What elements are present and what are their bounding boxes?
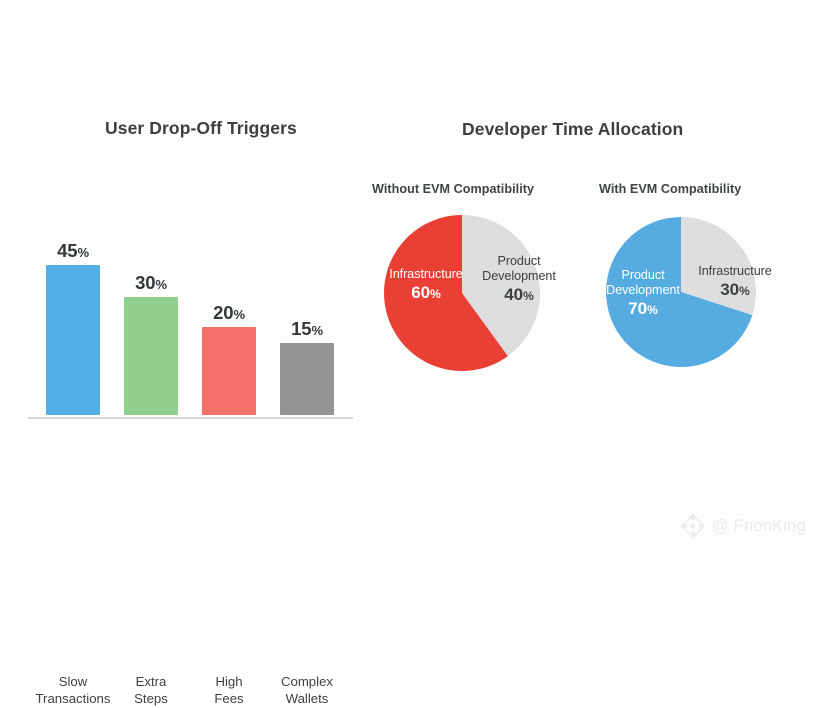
bar-chart-panel: User Drop-Off Triggers 45% Slow Transact… — [0, 110, 380, 410]
pie-1-svg — [383, 214, 541, 372]
bar-rect-slow-transactions[interactable] — [46, 265, 100, 415]
bar-category-line1-1: Extra — [136, 674, 167, 689]
pie-section-title: Developer Time Allocation — [462, 119, 683, 140]
pie-section-title-text: Developer Time Allocation — [462, 119, 683, 139]
bar-value-label-2: 20% — [213, 302, 245, 324]
bar-category-line2-3: Wallets — [286, 691, 329, 706]
bar-chart-title: User Drop-Off Triggers — [105, 118, 297, 139]
pie-charts-panel: Developer Time Allocation Without EVM Co… — [358, 110, 828, 410]
bar-category-line1-3: Complex — [281, 674, 333, 689]
bar-value-label-0: 45% — [57, 240, 89, 262]
bar-value-label-3: 15% — [291, 318, 323, 340]
pie-2-svg — [605, 216, 757, 368]
pie-1-graphic: Infrastructure 60% Product Development 4… — [383, 214, 541, 372]
bar-rect-extra-steps[interactable] — [124, 297, 178, 415]
bar-value-label-1: 30% — [135, 272, 167, 294]
bar-category-line1-2: High — [215, 674, 242, 689]
binance-diamond-logo-icon — [680, 513, 706, 539]
bar-category-label-3: Complex Wallets — [252, 673, 362, 708]
pie-2-subtitle: With EVM Compatibility — [599, 182, 741, 196]
bar-rect-high-fees[interactable] — [202, 327, 256, 415]
watermark-text: @ FrionKing — [712, 517, 806, 536]
bar-chart-plot-area: 45% Slow Transactions 30% Extra Steps 20… — [28, 170, 353, 420]
bar-category-line2-1: Steps — [134, 691, 168, 706]
watermark: @ FrionKing — [680, 513, 806, 539]
bar-category-line1-0: Slow — [59, 674, 88, 689]
bar-rect-complex-wallets[interactable] — [280, 343, 334, 415]
pie-2-graphic: Product Development 70% Infrastructure 3… — [605, 216, 757, 368]
pie-1-subtitle: Without EVM Compatibility — [372, 182, 534, 196]
bar-chart-axis-line — [28, 417, 353, 419]
bar-category-line2-2: Fees — [214, 691, 243, 706]
